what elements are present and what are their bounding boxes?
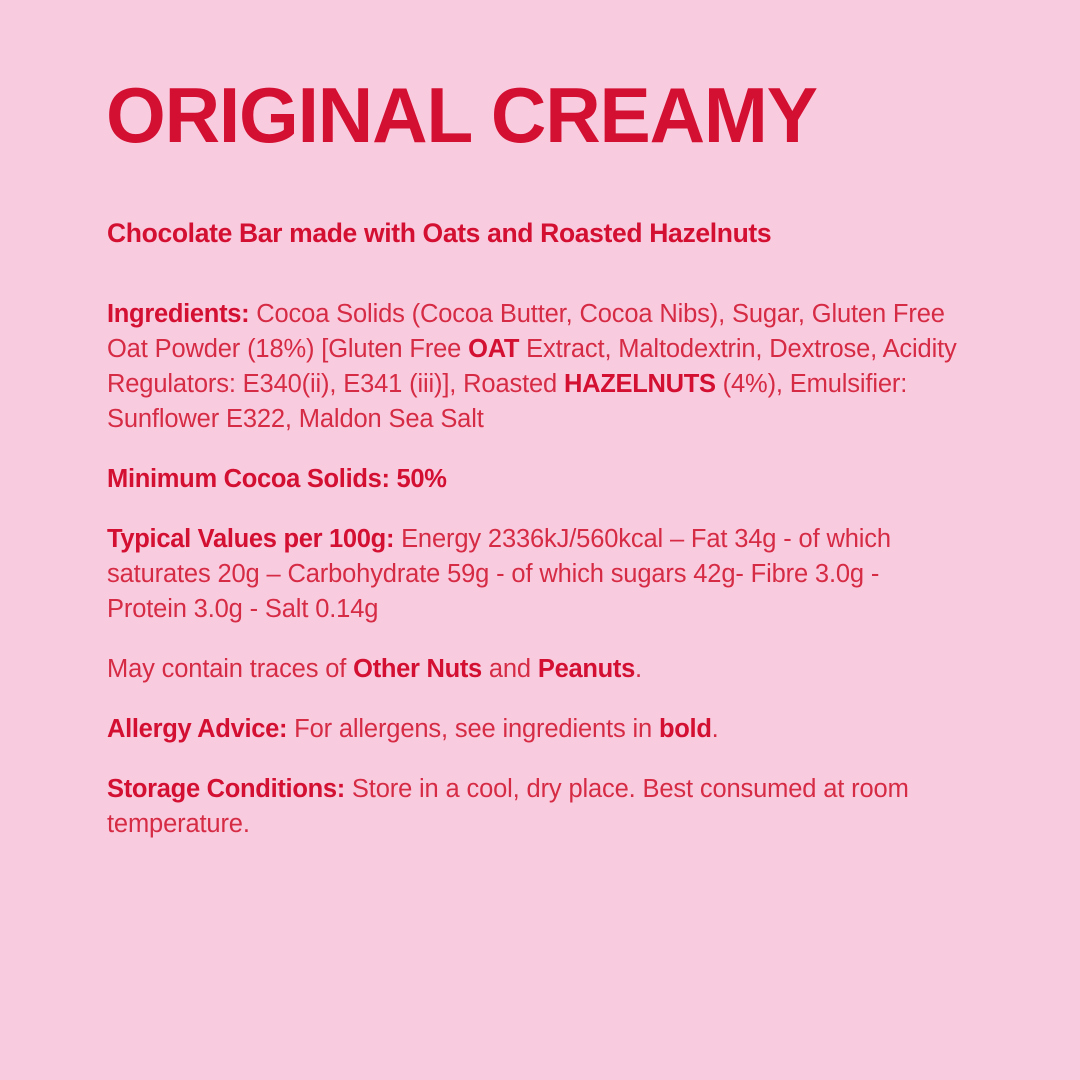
allergy-advice-label: Allergy Advice: xyxy=(107,715,287,743)
product-label-panel: ORIGINAL CREAMY Chocolate Bar made with … xyxy=(0,0,1080,1080)
product-subtitle: Chocolate Bar made with Oats and Roasted… xyxy=(107,216,771,250)
traces-conjunction: and xyxy=(482,655,538,683)
ingredients-label: Ingredients: xyxy=(107,300,249,328)
allergen-other-nuts: Other Nuts xyxy=(353,655,482,683)
typical-values-paragraph: Typical Values per 100g: Energy 2336kJ/5… xyxy=(107,522,947,627)
allergy-advice-text-before: For allergens, see ingredients in xyxy=(287,715,659,743)
ingredients-paragraph: Ingredients: Cocoa Solids (Cocoa Butter,… xyxy=(107,297,991,437)
allergy-advice-text-after: . xyxy=(712,715,719,743)
allergy-advice-emphasis: bold xyxy=(659,715,712,743)
storage-conditions-label: Storage Conditions: xyxy=(107,775,345,803)
page-title: ORIGINAL CREAMY xyxy=(106,72,817,158)
allergen-peanuts: Peanuts xyxy=(538,655,635,683)
typical-values-label: Typical Values per 100g: xyxy=(107,525,394,553)
minimum-cocoa-solids: Minimum Cocoa Solids: 50% xyxy=(107,462,987,497)
traces-suffix: . xyxy=(635,655,642,683)
traces-prefix: May contain traces of xyxy=(107,655,353,683)
allergen-hazelnuts: HAZELNUTS xyxy=(564,370,716,398)
traces-paragraph: May contain traces of Other Nuts and Pea… xyxy=(107,652,987,687)
storage-conditions-paragraph: Storage Conditions: Store in a cool, dry… xyxy=(107,772,947,842)
allergy-advice-paragraph: Allergy Advice: For allergens, see ingre… xyxy=(107,712,987,747)
allergen-oat: OAT xyxy=(468,335,519,363)
